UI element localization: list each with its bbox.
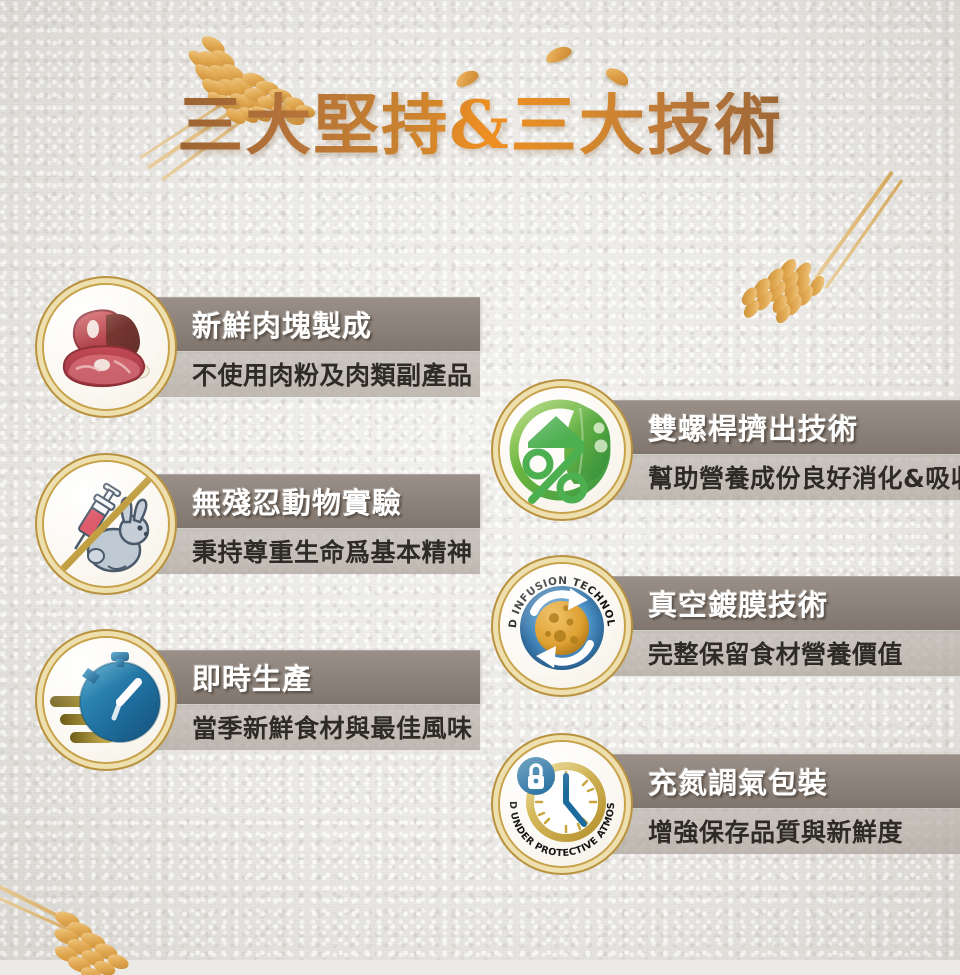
- green-percent-leaf-icon: [500, 388, 624, 512]
- feature-item-vacuum-coating[interactable]: COLD INFUSION TECHNOLOGY 真空鍍膜技術 完整保留食材營養…: [500, 564, 960, 688]
- feature-title: 雙螺桿擠出技術: [648, 406, 858, 448]
- protective-atmosphere-icon: PACKED UNDER PROTECTIVE ATMOSPHERE: [500, 742, 624, 866]
- page-title-container: 三大堅持&三大技術: [0, 92, 960, 158]
- feature-item-just-in-time[interactable]: 即時生產 當季新鮮食材與最佳風味: [44, 638, 480, 762]
- feature-subtitle-bar: 秉持尊重生命爲基本精神: [150, 528, 480, 574]
- feature-text-bars: 即時生產 當季新鮮食材與最佳風味: [150, 650, 480, 750]
- cold-infusion-icon: COLD INFUSION TECHNOLOGY: [500, 564, 624, 688]
- feature-text-bars: 新鮮肉塊製成 不使用肉粉及肉類副產品: [150, 297, 480, 397]
- feature-title: 充氮調氣包裝: [648, 760, 828, 802]
- feature-subtitle-bar: 不使用肉粉及肉類副產品: [150, 351, 480, 397]
- feature-text-bars: 充氮調氣包裝 增強保存品質與新鮮度: [606, 754, 960, 854]
- feature-item-twin-screw-extrusion[interactable]: 雙螺桿擠出技術 幫助營養成份良好消化&吸收: [500, 388, 960, 512]
- feature-title: 真空鍍膜技術: [648, 582, 828, 624]
- feature-subtitle: 不使用肉粉及肉類副產品: [192, 356, 473, 392]
- page-title: 三大堅持&三大技術: [177, 92, 783, 158]
- feature-subtitle-bar: 增強保存品質與新鮮度: [606, 808, 960, 854]
- feature-text-bars: 真空鍍膜技術 完整保留食材營養價值: [606, 576, 960, 676]
- feature-text-bars: 雙螺桿擠出技術 幫助營養成份良好消化&吸收: [606, 400, 960, 500]
- feature-title-bar: 真空鍍膜技術: [606, 576, 960, 630]
- feature-subtitle: 秉持尊重生命爲基本精神: [192, 533, 473, 569]
- feature-title: 無殘忍動物實驗: [192, 480, 402, 522]
- feature-text-bars: 無殘忍動物實驗 秉持尊重生命爲基本精神: [150, 474, 480, 574]
- feature-title: 即時生產: [192, 656, 312, 698]
- no-animal-testing-icon: [44, 462, 168, 586]
- fresh-meat-icon: [44, 285, 168, 409]
- feature-item-no-animal-testing[interactable]: 無殘忍動物實驗 秉持尊重生命爲基本精神: [44, 462, 480, 586]
- feature-title-bar: 無殘忍動物實驗: [150, 474, 480, 528]
- feature-subtitle: 幫助營養成份良好消化&吸收: [648, 459, 960, 495]
- feature-subtitle-bar: 幫助營養成份良好消化&吸收: [606, 454, 960, 500]
- feature-item-fresh-meat[interactable]: 新鮮肉塊製成 不使用肉粉及肉類副產品: [44, 285, 480, 409]
- feature-title-bar: 充氮調氣包裝: [606, 754, 960, 808]
- feature-subtitle-bar: 當季新鮮食材與最佳風味: [150, 704, 480, 750]
- feature-title-bar: 雙螺桿擠出技術: [606, 400, 960, 454]
- feature-subtitle: 增強保存品質與新鮮度: [648, 813, 903, 849]
- feature-item-nitrogen-packaging[interactable]: PACKED UNDER PROTECTIVE ATMOSPHERE 充氮調氣包…: [500, 742, 960, 866]
- feature-title-bar: 新鮮肉塊製成: [150, 297, 480, 351]
- feature-subtitle: 完整保留食材營養價值: [648, 635, 903, 671]
- feature-subtitle: 當季新鮮食材與最佳風味: [192, 709, 473, 745]
- stopwatch-icon: [44, 638, 168, 762]
- feature-title-bar: 即時生產: [150, 650, 480, 704]
- feature-subtitle-bar: 完整保留食材營養價值: [606, 630, 960, 676]
- feature-title: 新鮮肉塊製成: [192, 303, 372, 345]
